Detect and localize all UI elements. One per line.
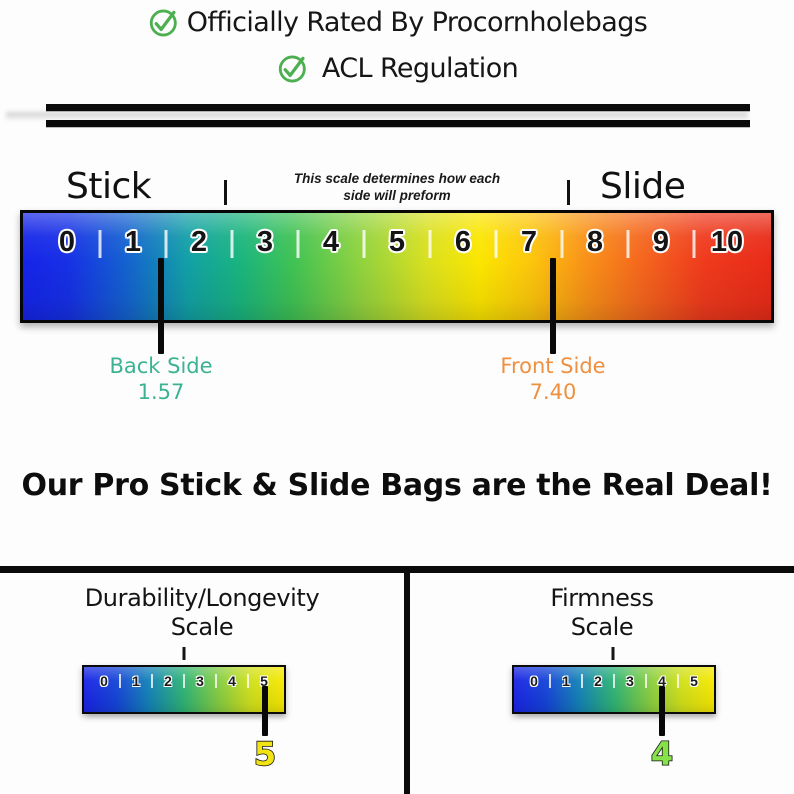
panel-firmness-title-line2: Scale — [571, 613, 634, 641]
main-scale-tick-6: 6 — [455, 226, 471, 258]
firmness-divider — [645, 674, 647, 688]
durability-pointer-tick — [183, 647, 186, 660]
scale-caption-line2: side will preform — [343, 188, 450, 203]
main-scale-divider — [363, 230, 366, 258]
scale-caption: This scale determines how each side will… — [277, 170, 517, 204]
durability-divider — [215, 674, 217, 688]
panel-durability: Durability/Longevity Scale 012345 5 — [0, 573, 404, 794]
main-scale-divider — [99, 230, 102, 258]
main-scale-divider — [231, 230, 234, 258]
front-side-name: Front Side — [500, 354, 605, 378]
firmness-tick-0: 0 — [530, 673, 538, 689]
firmness-value: 4 — [651, 736, 673, 772]
scale-pointer-tick-left — [224, 180, 227, 205]
durability-tick-0: 0 — [100, 673, 108, 689]
firmness-tick-3: 3 — [626, 673, 634, 689]
front-side-value: 7.40 — [500, 379, 605, 405]
panel-firmness-title: Firmness Scale — [410, 584, 794, 642]
badge-label: Officially Rated By Procornholebags — [187, 6, 648, 40]
main-scale-divider — [165, 230, 168, 258]
main-scale-tick-0: 0 — [59, 226, 75, 258]
divider-rule-top — [46, 104, 750, 111]
main-scale-divider — [627, 230, 630, 258]
firmness-divider — [581, 674, 583, 688]
divider-rule-bottom — [46, 120, 750, 127]
panel-durability-title-line1: Durability/Longevity — [85, 584, 320, 612]
durability-value: 5 — [254, 736, 276, 772]
durability-marker — [262, 686, 268, 736]
back-side-readout: Back Side 1.57 — [109, 353, 212, 405]
main-scale-divider — [297, 230, 300, 258]
main-scale-tick-1: 1 — [125, 226, 141, 258]
firmness-pointer-tick — [612, 647, 615, 660]
firmness-tick-1: 1 — [562, 673, 570, 689]
main-scale-tick-5: 5 — [389, 226, 405, 258]
badge-acl-regulation: ACL Regulation — [0, 52, 794, 86]
main-scale-tick-9: 9 — [653, 226, 669, 258]
durability-divider — [151, 674, 153, 688]
badge-officially-rated: Officially Rated By Procornholebags — [0, 6, 794, 40]
stick-label: Stick — [66, 167, 151, 207]
main-scale-divider — [429, 230, 432, 258]
panel-durability-title-line2: Scale — [171, 613, 234, 641]
front-side-marker — [550, 258, 556, 354]
durability-tick-3: 3 — [196, 673, 204, 689]
firmness-tick-5: 5 — [690, 673, 698, 689]
scale-pointer-tick-right — [567, 180, 570, 205]
durability-divider — [247, 674, 249, 688]
check-circle-icon — [147, 6, 181, 40]
durability-tick-1: 1 — [132, 673, 140, 689]
check-circle-icon — [276, 52, 310, 86]
firmness-marker — [659, 686, 665, 736]
panel-firmness-title-line1: Firmness — [550, 584, 653, 612]
main-scale-tick-7: 7 — [521, 226, 537, 258]
durability-divider — [183, 674, 185, 688]
infographic-canvas: Officially Rated By Procornholebags ACL … — [0, 0, 794, 794]
headline: Our Pro Stick & Slide Bags are the Real … — [0, 468, 794, 504]
firmness-divider — [613, 674, 615, 688]
main-scale-tick-4: 4 — [323, 226, 339, 258]
main-scale-divider — [561, 230, 564, 258]
main-scale-tick-2: 2 — [191, 226, 207, 258]
main-scale-tick-3: 3 — [257, 226, 273, 258]
front-side-readout: Front Side 7.40 — [500, 353, 605, 405]
main-scale-divider — [693, 230, 696, 258]
main-scale-divider — [495, 230, 498, 258]
durability-tick-labels: 012345 — [82, 665, 286, 714]
firmness-tick-2: 2 — [594, 673, 602, 689]
panel-durability-title: Durability/Longevity Scale — [0, 584, 404, 642]
durability-tick-4: 4 — [228, 673, 236, 689]
firmness-divider — [677, 674, 679, 688]
firmness-tick-labels: 012345 — [512, 665, 716, 714]
durability-tick-2: 2 — [164, 673, 172, 689]
firmness-divider — [549, 674, 551, 688]
main-scale-dropshadow — [6, 112, 748, 121]
main-scale-tick-10: 10 — [711, 226, 743, 258]
panel-divider-horizontal — [0, 566, 794, 573]
durability-divider — [119, 674, 121, 688]
slide-label: Slide — [600, 167, 685, 207]
back-side-marker — [158, 258, 164, 354]
badge-label: ACL Regulation — [322, 52, 518, 86]
back-side-value: 1.57 — [109, 379, 212, 405]
main-scale-tick-8: 8 — [587, 226, 603, 258]
main-scale: 012345678910 — [20, 210, 774, 323]
panel-firmness: Firmness Scale 012345 4 — [410, 573, 794, 794]
back-side-name: Back Side — [109, 354, 212, 378]
scale-caption-line1: This scale determines how each — [294, 171, 500, 186]
